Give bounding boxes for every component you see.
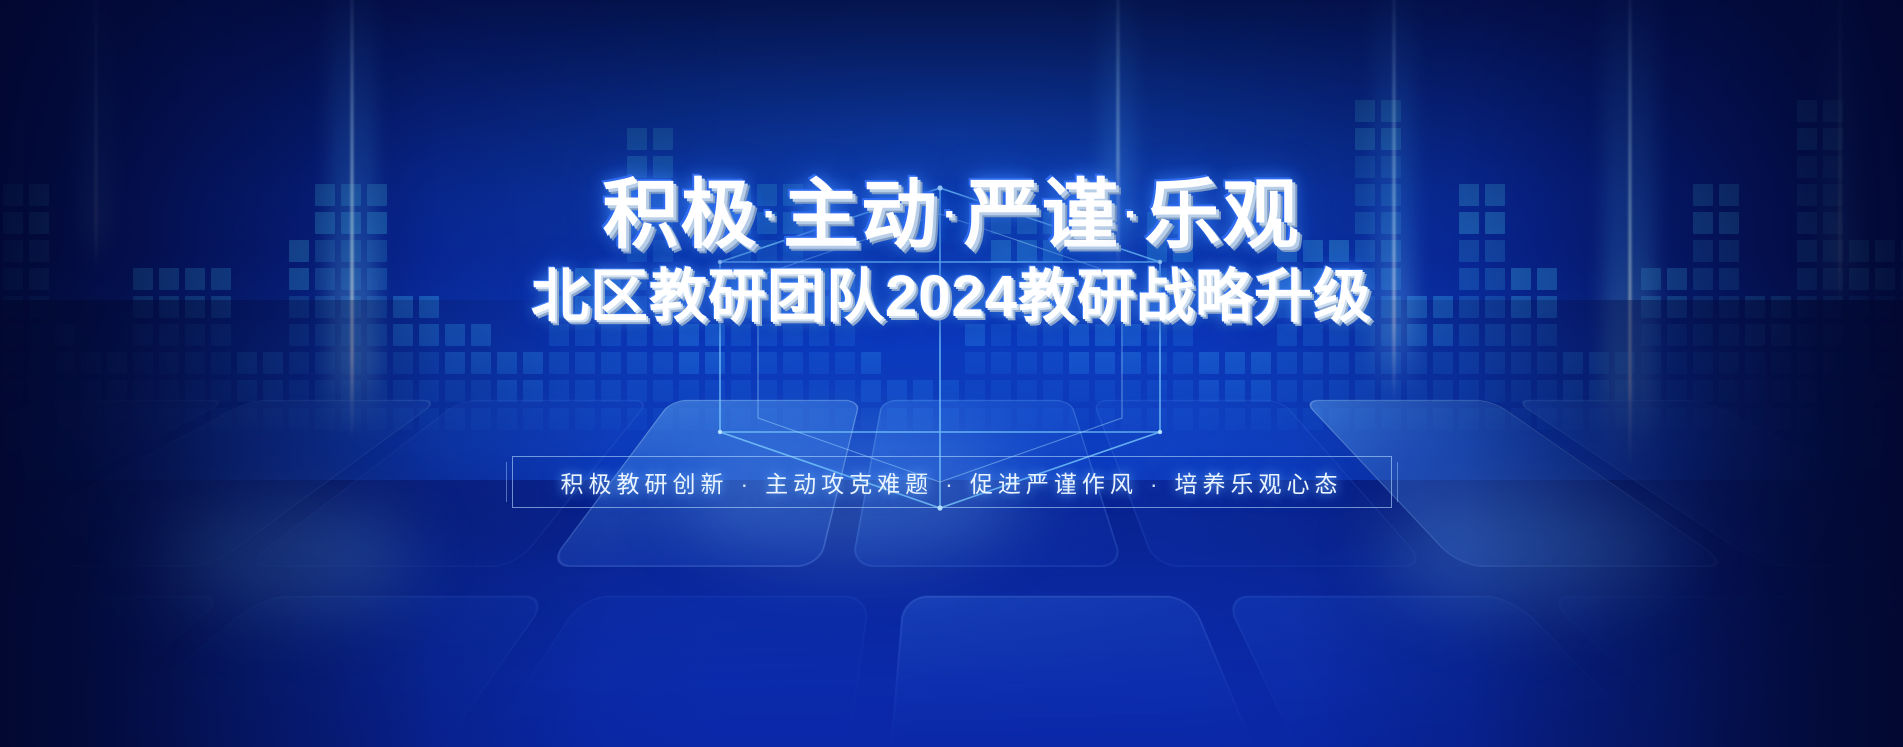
headline-separator-1: ·: [759, 190, 784, 239]
headline-separator-3: ·: [1120, 190, 1145, 239]
tagline-item-1: 积极教研创新: [560, 471, 728, 497]
tagline-item-2: 主动攻克难题: [765, 471, 933, 497]
headline-word-2: 主动: [783, 173, 939, 258]
tagline-separator-1: ·: [728, 471, 765, 497]
headline-word-4: 乐观: [1144, 173, 1300, 258]
tagline-separator-2: ·: [933, 471, 970, 497]
headline-title: 积极·主动·严谨·乐观: [0, 178, 1903, 254]
tagline-separator-3: ·: [1138, 471, 1175, 497]
headline-separator-2: ·: [939, 190, 964, 239]
banner-root: 积极·主动·严谨·乐观 北区教研团队2024教研战略升级 积极教研创新·主动攻克…: [0, 0, 1903, 747]
tagline-item-4: 培养乐观心态: [1175, 471, 1343, 497]
headline-word-3: 严谨: [964, 173, 1120, 258]
banner-content: 积极·主动·严谨·乐观 北区教研团队2024教研战略升级 积极教研创新·主动攻克…: [0, 0, 1903, 747]
headline-word-1: 积极: [603, 173, 759, 258]
tagline-text: 积极教研创新·主动攻克难题·促进严谨作风·培养乐观心态: [560, 465, 1342, 499]
subheadline-title: 北区教研团队2024教研战略升级: [0, 268, 1903, 326]
tagline-item-3: 促进严谨作风: [970, 471, 1138, 497]
tagline-box: 积极教研创新·主动攻克难题·促进严谨作风·培养乐观心态: [512, 456, 1392, 508]
